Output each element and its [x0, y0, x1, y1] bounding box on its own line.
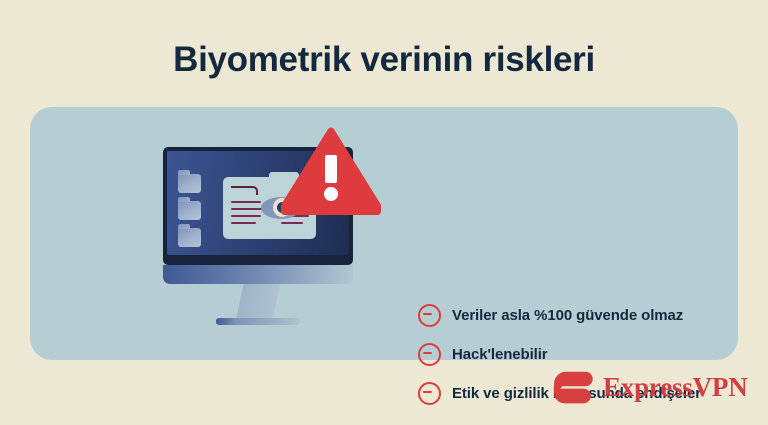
page-title: Biyometrik verinin riskleri	[0, 40, 768, 80]
minus-circle-icon	[418, 343, 441, 366]
expressvpn-wordmark: ExpressVPN	[603, 374, 748, 401]
infographic-page: Biyometrik verinin riskleri	[0, 0, 768, 425]
expressvpn-logo: ExpressVPN	[552, 371, 748, 404]
document-hook-line	[231, 186, 258, 195]
list-item: Hack'lenebilir	[418, 335, 748, 374]
document-text-line	[281, 222, 303, 224]
folder-icon	[178, 174, 201, 193]
monitor-base	[216, 318, 300, 325]
warning-triangle-icon	[281, 127, 381, 215]
monitor-chin	[163, 265, 353, 284]
monitor-illustration	[133, 122, 403, 342]
minus-circle-icon	[418, 382, 441, 405]
list-item: Veriler asla %100 güvende olmaz	[418, 296, 748, 335]
minus-circle-icon	[418, 304, 441, 327]
document-text-line	[231, 201, 261, 203]
expressvpn-mark-icon	[552, 371, 594, 404]
folder-icon	[178, 228, 201, 247]
folder-icon	[178, 201, 201, 220]
document-text-line	[231, 215, 261, 217]
monitor-stand	[236, 284, 280, 320]
content-panel: Veriler asla %100 güvende olmaz Hack'len…	[30, 107, 738, 360]
list-item-label: Veriler asla %100 güvende olmaz	[452, 307, 683, 324]
document-text-line	[231, 222, 256, 224]
list-item-label: Hack'lenebilir	[452, 346, 548, 363]
